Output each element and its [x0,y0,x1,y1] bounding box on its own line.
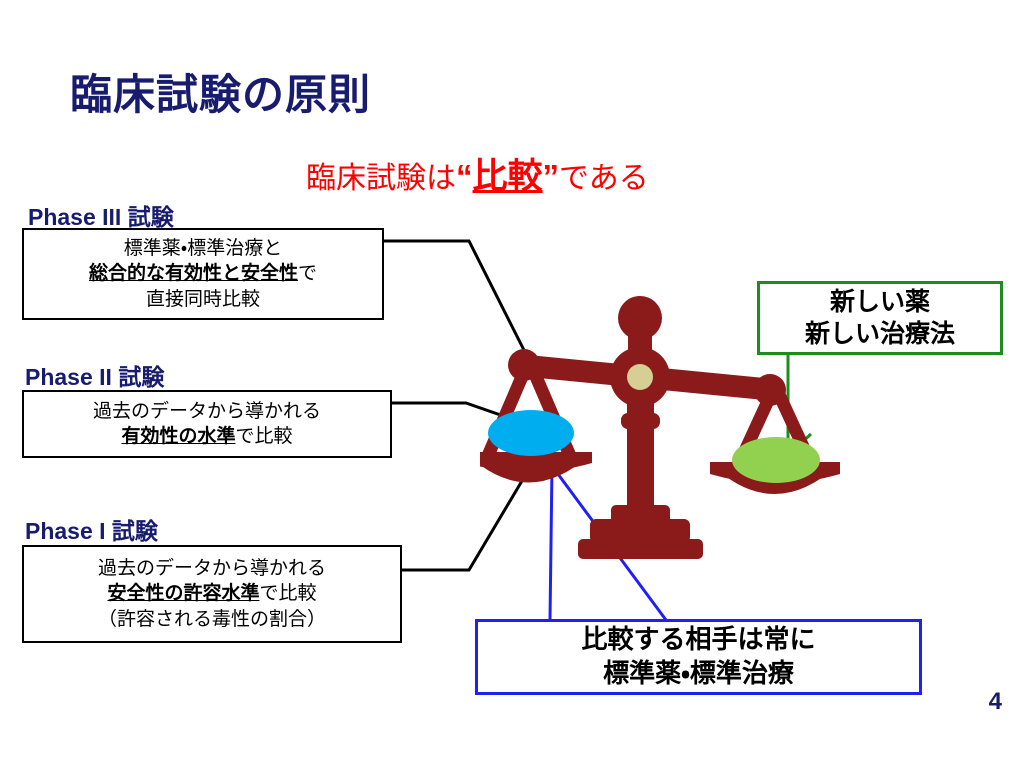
plain-text: で [298,263,317,284]
callout-green-line-2: 新しい治療法 [805,318,955,350]
phase-2-label: Phase II 試験 [25,358,164,392]
phase-2-line-2: 有効性の水準で比較 [121,424,292,449]
plain-text: 過去のデータから導かれる [98,558,326,579]
phase-1-line-2: 安全性の許容水準で比較 [107,581,316,606]
subtitle-emphasis: 比較 [473,157,543,196]
phase-3-line-3: 直接同時比較 [146,287,260,312]
plain-text: （許容される毒性の割合） [98,609,326,630]
phase-3-box: 標準薬・標準治療と 総合的な有効性と安全性で 直接同時比較 [22,228,384,320]
subtitle-suffix: である [559,162,649,195]
phase-1-label: Phase I 試験 [25,512,158,546]
right-pan-green-ellipse [732,437,820,483]
scale-pivot-circle [627,364,653,390]
page-title: 臨床試験の原則 [70,72,371,118]
emphasized-text: 総合的な有効性と安全性 [89,263,298,284]
subtitle-prefix: 臨床試験は [306,162,456,195]
plain-text: で比較 [236,426,293,447]
subtitle-open-quote: “ [456,158,473,195]
page-number: 4 [989,688,1002,716]
plain-text: 標準薬・標準治療と [124,238,282,259]
emphasized-text: 有効性の水準 [121,426,235,447]
emphasized-text: 安全性の許容水準 [107,583,259,604]
slide-canvas: 臨床試験の原則 臨床試験は“比較”である [0,0,1024,768]
plain-text: 過去のデータから導かれる [93,401,321,422]
left-pan-blue-ellipse [488,410,574,456]
phase-3-label: Phase III 試験 [28,198,174,232]
callout-blue-line-2: 標準薬・標準治療 [603,657,794,691]
subtitle-close-quote: ” [543,158,560,195]
phase-1-box: 過去のデータから導かれる 安全性の許容水準で比較 （許容される毒性の割合） [22,545,402,643]
scale-collar [621,413,660,429]
callout-green-line-1: 新しい薬 [830,286,930,318]
callout-comparator: 比較する相手は常に 標準薬・標準治療 [475,619,922,695]
callout-new-drug: 新しい薬 新しい治療法 [757,281,1003,355]
plain-text: で比較 [260,583,317,604]
phase-3-line-1: 標準薬・標準治療と [124,236,282,261]
phase-2-line-1: 過去のデータから導かれる [93,399,321,424]
phase-3-line-2: 総合的な有効性と安全性で [89,261,317,286]
phase-2-box: 過去のデータから導かれる 有効性の水準で比較 [22,390,392,458]
plain-text: 直接同時比較 [146,289,260,310]
subtitle-text: 臨床試験は“比較”である [306,156,649,198]
phase-1-line-1: 過去のデータから導かれる [98,556,326,581]
callout-blue-line-1: 比較する相手は常に [581,623,815,657]
phase-1-line-3: （許容される毒性の割合） [98,607,326,632]
